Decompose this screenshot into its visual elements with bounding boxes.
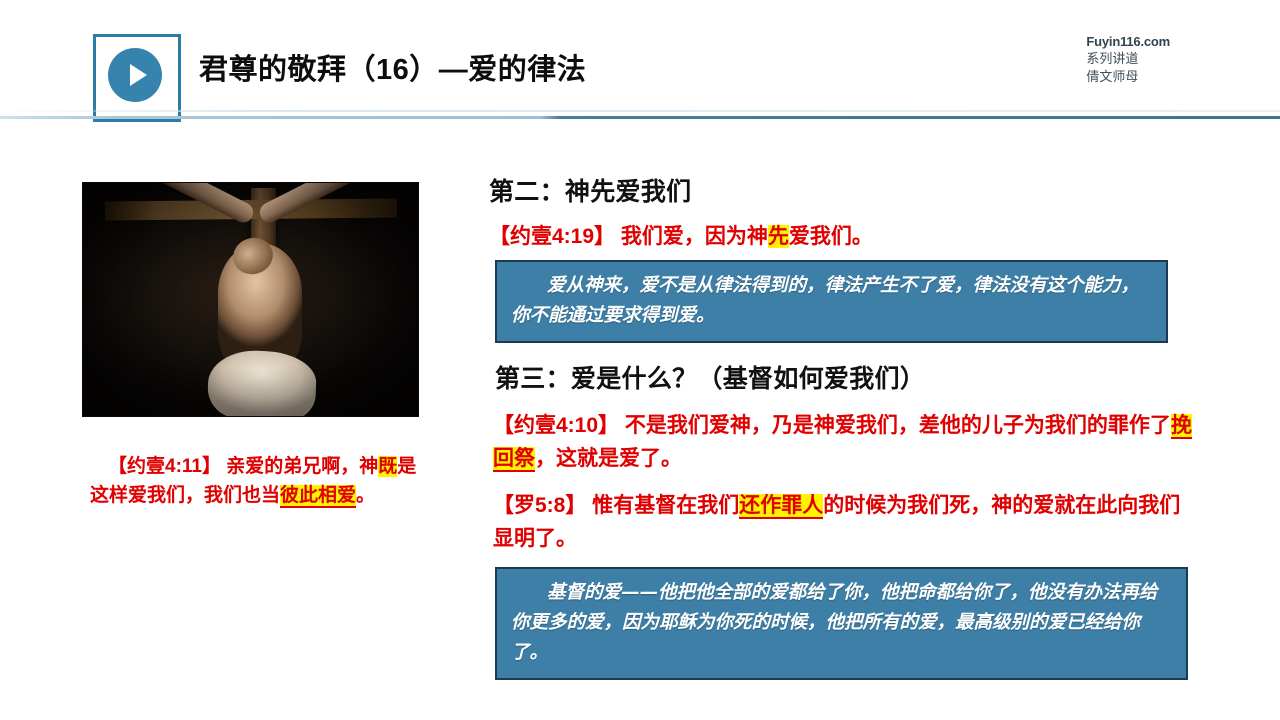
verse-410-reference: 【约壹4:10】 [493, 414, 619, 437]
scripture-1john-4-10: 【约壹4:10】 不是我们爱神，乃是神爱我们，差他的儿子为我们的罪作了挽回祭，这… [493, 410, 1193, 475]
page-title: 君尊的敬拜（16）—爱的律法 [199, 46, 586, 88]
heading-two-emphasis: 爱我们 [616, 178, 692, 206]
verse-58-highlight: 还作罪人 [739, 494, 823, 519]
section-heading-three: 第三：爱是什么？（基督如何爱我们） [495, 359, 925, 395]
heading-three-prefix: 第三： [495, 365, 571, 393]
scripture-1john-4-19: 【约壹4:19】 我们爱，因为神先爱我们。 [489, 221, 1189, 254]
left-caption-scripture: 【约壹4:11】 亲爱的弟兄啊，神既是这样爱我们，我们也当彼此相爱。 [82, 453, 420, 511]
quote-box-two: 基督的爱——他把他全部的爱都给了你，他把命都给你了，他没有办法再给你更多的爱，因… [495, 567, 1188, 680]
verse-419-text-2: 爱我们。 [789, 225, 873, 248]
verse-419-text-1: 我们爱，因为神 [615, 225, 768, 248]
caption-highlight-2: 彼此相爱 [280, 485, 356, 508]
heading-three-middle: 是什么？（基督如何 [596, 365, 824, 393]
verse-419-highlight: 先 [768, 225, 789, 248]
branding-series: 系列讲道 [1086, 50, 1170, 67]
crucifixion-painting-image [82, 182, 419, 417]
verse-58-reference: 【罗5:8】 [493, 494, 586, 517]
quote-box-one: 爱从神来，爱不是从律法得到的，律法产生不了爱，律法没有这个能力，你不能通过要求得… [495, 260, 1168, 343]
heading-three-emphasis-2: 爱我们 [824, 365, 900, 393]
heading-two-prefix: 第二：神先 [489, 178, 616, 206]
caption-reference: 【约壹4:11】 [108, 456, 221, 477]
branding: Fuyin116.com 系列讲道 倩文师母 [1086, 33, 1170, 85]
heading-three-suffix: ） [900, 365, 925, 393]
slide-header: 君尊的敬拜（16）—爱的律法 Fuyin116.com 系列讲道 倩文师母 [0, 0, 1280, 130]
verse-419-reference: 【约壹4:19】 [489, 225, 615, 248]
header-rule-highlight [0, 110, 1280, 112]
verse-410-text-1: 不是我们爱神，乃是神爱我们，差他的儿子为我们的罪作了 [619, 414, 1171, 437]
caption-highlight-1: 既 [378, 456, 397, 477]
heading-three-emphasis-1: 爱 [571, 365, 596, 393]
left-column: 【约壹4:11】 亲爱的弟兄啊，神既是这样爱我们，我们也当彼此相爱。 [82, 182, 422, 511]
branding-site: Fuyin116.com [1086, 33, 1170, 50]
play-triangle-icon [130, 64, 147, 86]
play-button-icon[interactable] [108, 48, 162, 102]
caption-text-3: 。 [356, 485, 375, 506]
section-heading-two: 第二：神先爱我们 [489, 172, 691, 208]
caption-text-1: 亲爱的弟兄啊，神 [221, 456, 378, 477]
verse-58-text-1: 惟有基督在我们 [586, 494, 739, 517]
scripture-romans-5-8: 【罗5:8】 惟有基督在我们还作罪人的时候为我们死，神的爱就在此向我们显明了。 [493, 490, 1193, 555]
verse-410-text-2: ，这就是爱了。 [535, 447, 682, 470]
branding-speaker: 倩文师母 [1086, 68, 1170, 85]
header-divider [0, 116, 1280, 119]
